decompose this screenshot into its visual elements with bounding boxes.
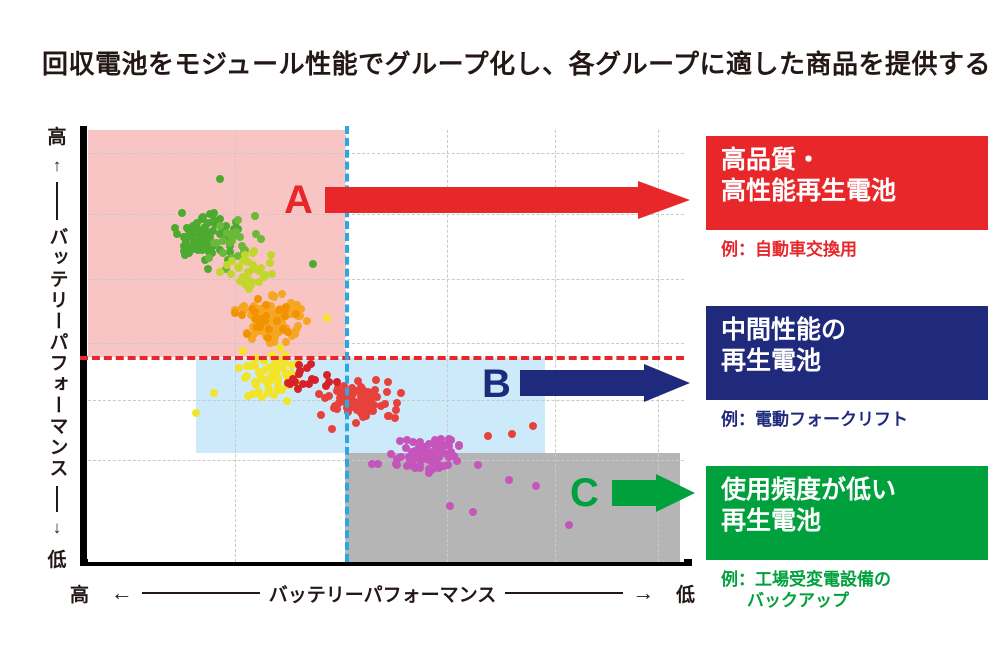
scatter-point [243, 273, 251, 281]
scatter-point [273, 317, 281, 325]
scatter-point [243, 372, 251, 380]
scatter-point [223, 229, 231, 237]
scatter-point [317, 411, 325, 419]
panel-b: 中間性能の 再生電池 例：電動フォークリフト [706, 306, 988, 430]
scatter-point [192, 409, 200, 417]
y-axis-rule-top [56, 182, 58, 220]
x-axis-rule-right [505, 592, 623, 594]
scatter-point [260, 273, 268, 281]
scatter-point [392, 406, 400, 414]
arrow-b [520, 364, 690, 402]
panel-b-box: 中間性能の 再生電池 [706, 306, 988, 400]
scatter-point [244, 392, 252, 400]
scatter-point [178, 209, 186, 217]
scatter-point [325, 378, 333, 386]
scatter-point [372, 376, 380, 384]
scatter-point [267, 251, 275, 259]
arrow-c-shaft [612, 480, 658, 506]
arrow-b-head [644, 364, 690, 402]
arrow-b-shaft [520, 370, 646, 396]
scatter-point [309, 260, 317, 268]
scatter-point [243, 362, 251, 370]
arrow-a-shaft [325, 187, 640, 213]
scatter-point [194, 246, 202, 254]
y-axis-line [80, 126, 87, 566]
panel-c-title-line1: 使用頻度が低い [721, 475, 975, 506]
arrow-c-head [656, 474, 695, 512]
scatter-point [397, 389, 405, 397]
scatter-point [469, 508, 477, 516]
scatter-point [505, 476, 513, 484]
x-axis-left-arrow: ← [111, 580, 133, 606]
scatter-point [323, 314, 331, 322]
scatter-point [529, 422, 537, 430]
panel-c-example-line2: バックアップ [721, 590, 988, 611]
scatter-point [258, 315, 266, 323]
scatter-point [278, 290, 286, 298]
scatter-point [323, 371, 331, 379]
x-axis-low-label: 低 [676, 580, 695, 607]
scatter-point [328, 425, 336, 433]
scatter-point [446, 502, 454, 510]
scatter-point [416, 464, 424, 472]
scatter-point [565, 521, 573, 529]
scatter-point [262, 301, 270, 309]
scatter-point [253, 323, 261, 331]
arrow-a [325, 181, 690, 219]
scatter-point [216, 268, 224, 276]
scatter-point [303, 364, 311, 372]
scatter-point [210, 389, 218, 397]
scatter-point [274, 382, 282, 390]
arrow-a-head [638, 181, 690, 219]
scatter-point [330, 404, 338, 412]
x-axis-right-arrow: → [632, 580, 654, 606]
scatter-point [254, 295, 262, 303]
panel-c-box: 使用頻度が低い 再生電池 [706, 466, 988, 560]
scatter-point [252, 381, 260, 389]
scatter-point [352, 419, 360, 427]
x-axis-high-label: 高 [70, 580, 89, 607]
scatter-point [283, 397, 291, 405]
arrow-c [612, 474, 695, 512]
scatter-point [204, 265, 212, 273]
panel-b-title-line1: 中間性能の [721, 315, 975, 346]
scatter-point [429, 453, 437, 461]
scatter-point [261, 366, 269, 374]
scatter-point [397, 453, 405, 461]
scatter-point [408, 451, 416, 459]
panel-a: 高品質・ 高性能再生電池 例：自動車交換用 [706, 136, 988, 260]
scatter-point [261, 376, 269, 384]
scatter-point [199, 213, 207, 221]
scatter-point [180, 233, 188, 241]
panel-c-title-line2: 再生電池 [721, 506, 975, 537]
scatter-point [210, 239, 218, 247]
scatter-point [419, 448, 427, 456]
scatter-point [219, 249, 227, 257]
scatter-point [252, 230, 260, 238]
y-axis-caption: 高 ↑ バッテリーパフォーマンス ↓ 低 [40, 122, 74, 572]
group-label-a: A [284, 180, 313, 220]
scatter-point [251, 362, 259, 370]
page-title: 回収電池をモジュール性能でグループ化し、各グループに適した商品を提供する [42, 44, 991, 81]
scatter-point [184, 225, 192, 233]
scatter-point [294, 322, 302, 330]
scatter-point [294, 385, 302, 393]
scatter-point [532, 482, 540, 490]
scatter-point [381, 400, 389, 408]
scatter-point [251, 212, 259, 220]
scatter-point [333, 378, 341, 386]
y-axis-low-label: 低 [47, 545, 66, 572]
scatter-point [240, 302, 248, 310]
x-axis-caption: 高 ← バッテリーパフォーマンス → 低 [70, 578, 695, 608]
scatter-point [384, 378, 392, 386]
scatter-point [265, 325, 273, 333]
scatter-point [266, 259, 274, 267]
scatter-point [508, 430, 516, 438]
y-axis-down-arrow: ↓ [53, 518, 62, 538]
scatter-point [185, 249, 193, 257]
scatter-point [268, 292, 276, 300]
scatter-point [228, 237, 236, 245]
scatter-point [227, 270, 235, 278]
panel-a-title-line1: 高品質・ [721, 145, 975, 176]
scatter-point [235, 364, 243, 372]
panel-b-title-line2: 再生電池 [721, 346, 975, 377]
y-axis-label: バッテリーパフォーマンス [48, 227, 67, 479]
scatter-point [249, 249, 257, 257]
scatter-point [303, 317, 311, 325]
y-axis-rule-bottom [56, 486, 58, 512]
scatter-point [474, 461, 482, 469]
panel-c-example: 例：工場受変電設備の バックアップ [706, 569, 988, 612]
x-axis-rule-left [142, 592, 260, 594]
panel-c-example-line1: 例：工場受変電設備の [721, 570, 891, 589]
panel-a-box: 高品質・ 高性能再生電池 [706, 136, 988, 230]
scatter-point [264, 334, 272, 342]
scatter-point [196, 235, 204, 243]
y-axis-high-label: 高 [47, 122, 66, 149]
scatter-point [274, 374, 282, 382]
scatter-point [484, 432, 492, 440]
scatter-point [205, 254, 213, 262]
panel-c: 使用頻度が低い 再生電池 例：工場受変電設備の バックアップ [706, 466, 988, 612]
scatter-point [239, 347, 247, 355]
scatter-point [234, 263, 242, 271]
scatter-point [284, 328, 292, 336]
panel-b-example: 例：電動フォークリフト [706, 409, 988, 430]
panel-a-title-line2: 高性能再生電池 [721, 176, 975, 207]
scatter-point [216, 175, 224, 183]
scatter-point [258, 393, 266, 401]
scatter-point [383, 388, 391, 396]
scatter-point [234, 216, 242, 224]
scatter-point [396, 437, 404, 445]
y-axis-up-arrow: ↑ [53, 156, 62, 176]
panel-a-example: 例：自動車交換用 [706, 239, 988, 260]
scatter-point [359, 386, 367, 394]
group-label-b: B [482, 364, 511, 404]
scatter-point [238, 311, 246, 319]
scatter-point [279, 364, 287, 372]
scatter-point [385, 412, 393, 420]
group-label-c: C [570, 473, 599, 513]
scatter-point [243, 330, 251, 338]
scatter-point [374, 460, 382, 468]
x-axis-mid: ← バッテリーパフォーマンス → [89, 580, 676, 607]
scatter-point [248, 305, 256, 313]
scatter-point [325, 392, 333, 400]
scatter-point [268, 270, 276, 278]
threshold-line-horizontal [80, 356, 684, 360]
x-axis-label: バッテリーパフォーマンス [269, 580, 496, 607]
scatter-point [367, 390, 375, 398]
scatter-point [392, 460, 400, 468]
